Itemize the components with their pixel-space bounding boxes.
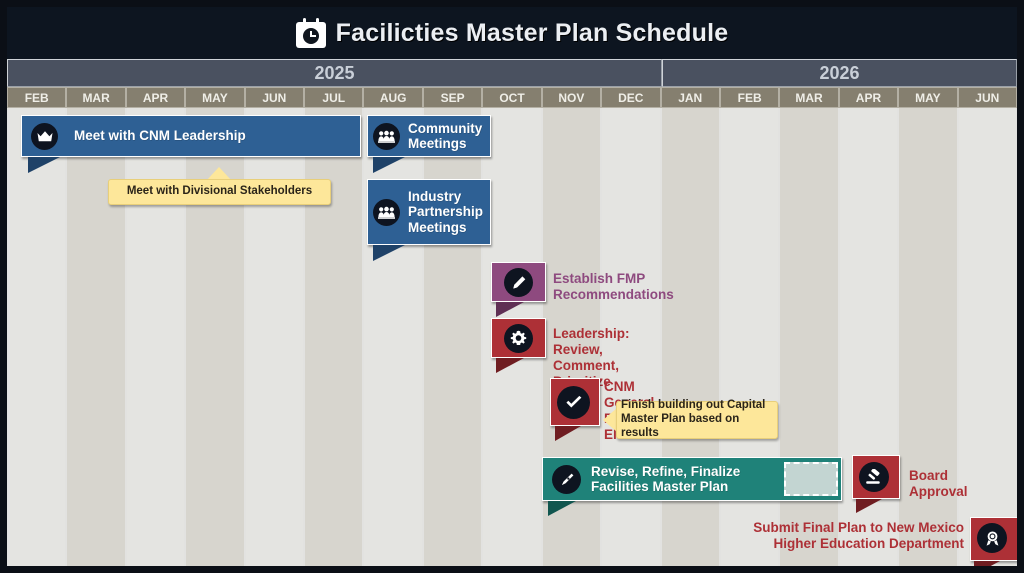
grid-column-1	[67, 108, 124, 566]
year-label: 2026	[819, 63, 859, 84]
callout-box: Finish building out CapitalMaster Plan b…	[616, 401, 778, 439]
label-board-approval: Board Approval	[909, 468, 968, 500]
bar-tail	[373, 157, 405, 173]
people-group-icon	[373, 123, 400, 150]
month-cell-jan-11: JAN	[661, 87, 720, 108]
month-cell-may-15: MAY	[898, 87, 957, 108]
month-cell-apr-2: APR	[126, 87, 185, 108]
grid-column-0	[8, 108, 65, 566]
month-cell-feb-0: FEB	[7, 87, 66, 108]
month-cell-feb-12: FEB	[720, 87, 779, 108]
title-bar: Facilicties Master Plan Schedule	[7, 7, 1017, 59]
month-cell-oct-8: OCT	[482, 87, 541, 108]
card-tail	[974, 561, 1000, 566]
pen-nib-icon	[552, 465, 581, 494]
grid-column-6	[364, 108, 421, 566]
month-cell-dec-10: DEC	[601, 87, 660, 108]
people-group-icon	[373, 199, 400, 226]
bar-label: Meet with CNM Leadership	[74, 128, 246, 143]
label-submit-final-plan: Submit Final Plan to New MexicoHigher Ed…	[729, 520, 964, 552]
month-cell-jun-16: JUN	[958, 87, 1017, 108]
month-cell-sep-7: SEP	[423, 87, 482, 108]
bar-label: IndustryPartnershipMeetings	[408, 189, 483, 234]
label-establish-fmp: Establish FMP Recommendations	[553, 271, 674, 303]
month-cell-jul-5: JUL	[304, 87, 363, 108]
grid-column-4	[246, 108, 303, 566]
callout-box: Meet with Divisional Stakeholders	[108, 179, 331, 205]
award-ribbon-icon	[977, 523, 1007, 553]
bar-tail	[373, 245, 405, 261]
month-cell-may-3: MAY	[185, 87, 244, 108]
month-cell-jun-4: JUN	[245, 87, 304, 108]
month-cell-nov-9: NOV	[542, 87, 601, 108]
callout-text: Meet with Divisional Stakeholders	[127, 185, 312, 199]
bar-meet-cnm-leadership[interactable]: Meet with CNM Leadership	[21, 115, 361, 157]
month-cell-mar-13: MAR	[779, 87, 838, 108]
year-cell-2025: 2025	[7, 59, 662, 87]
bar-tail	[548, 501, 576, 516]
grid-column-5	[305, 108, 362, 566]
bar-label: Revise, Refine, FinalizeFacilities Maste…	[591, 464, 740, 494]
year-header-row: 2025 2026	[7, 59, 1017, 87]
callout-text: Finish building out CapitalMaster Plan b…	[617, 399, 777, 440]
page-title: Facilicties Master Plan Schedule	[336, 19, 729, 48]
month-cell-mar-1: MAR	[66, 87, 125, 108]
year-label: 2025	[314, 63, 354, 84]
card-tail	[496, 358, 524, 373]
month-header-row: FEBMARAPRMAYJUNJULAUGSEPOCTNOVDECJANFEBM…	[7, 87, 1017, 108]
callout-pointer-left	[603, 408, 617, 432]
card-tail	[496, 302, 524, 317]
gavel-icon	[859, 462, 889, 492]
pending-extension-block	[784, 462, 838, 496]
calendar-clock-icon	[296, 18, 326, 48]
card-tail	[555, 426, 581, 441]
year-cell-2026: 2026	[662, 59, 1017, 87]
month-cell-aug-6: AUG	[363, 87, 422, 108]
crown-icon	[31, 123, 58, 150]
check-circle-icon	[557, 386, 590, 419]
grid-column-7	[424, 108, 481, 566]
month-cell-apr-14: APR	[839, 87, 898, 108]
schedule-board: Facilicties Master Plan Schedule 2025 20…	[7, 7, 1017, 566]
pencil-icon	[504, 268, 533, 297]
bar-tail	[28, 157, 60, 173]
gear-icon	[504, 324, 533, 353]
grid-column-2	[127, 108, 184, 566]
infographic-canvas: Facilicties Master Plan Schedule 2025 20…	[0, 0, 1024, 573]
bar-label: CommunityMeetings	[408, 121, 482, 151]
card-tail	[856, 499, 882, 513]
